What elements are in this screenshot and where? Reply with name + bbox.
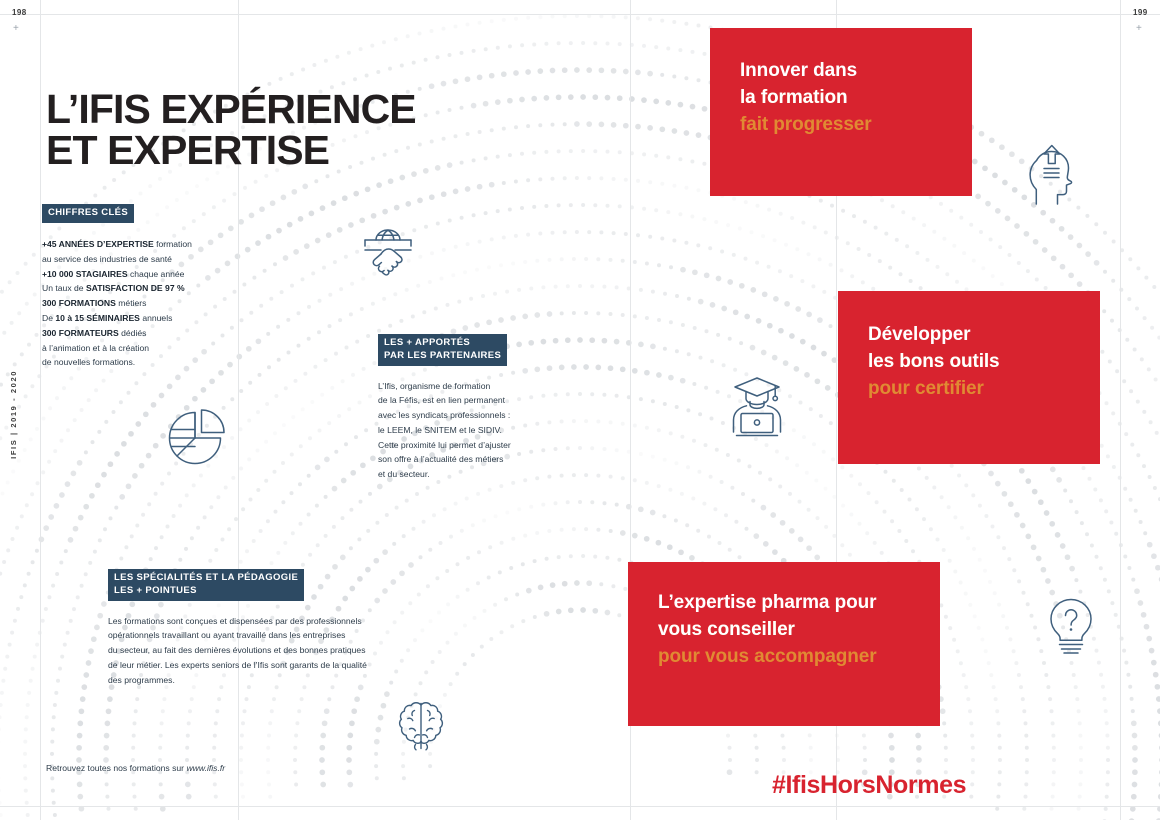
hashtag-ifishorsnormes: #IfisHorsNormes [772,771,966,800]
body-text-line: De 10 à 15 SÉMINAIRES annuels [42,311,232,326]
body-text-run: annuels [142,313,172,323]
body-text-strong: 300 FORMATIONS [42,298,118,308]
body-text-run: de leur métier. Les experts seniors de l… [108,660,367,670]
body-text-line: +10 000 STAGIAIRES chaque année [42,267,232,282]
body-text-line: et du secteur. [378,467,548,482]
body-text-line: son offre à l’actualité des métiers [378,452,548,467]
body-text-strong: 300 FORMATEURS [42,328,121,338]
body-text-strong: SATISFACTION DE 97 % [86,283,185,293]
body-text-strong: +10 000 STAGIAIRES [42,269,130,279]
page-title-line-1: L’IFIS EXPÉRIENCE [46,89,416,129]
section-label-chiffres-cles: CHIFFRES CLÉS [42,204,134,223]
body-text-line: de leur métier. Les experts seniors de l… [108,658,398,673]
page-title: L’IFIS EXPÉRIENCE ET EXPERTISE [46,89,416,169]
footer-url-value[interactable]: www.ifis.fr [186,763,225,773]
body-text-line: +45 ANNÉES D’EXPERTISE formation [42,237,232,252]
spine-label: IFIS | 2019 - 2020 [9,370,18,459]
section-label-line: LES + POINTUES [114,585,298,598]
section-label-specialites-pedagogie: LES SPÉCIALITÉS ET LA PÉDAGOGIELES + POI… [108,569,304,601]
page-title-line-2: ET EXPERTISE [46,130,416,170]
section-label-line: LES SPÉCIALITÉS ET LA PÉDAGOGIE [114,572,298,585]
body-text-run: Les formations sont conçues et dispensée… [108,616,362,626]
section-label-les-plus-apportes: LES + APPORTÉSPAR LES PARTENAIRES [378,334,507,366]
head-up-arrow-icon [1018,140,1080,210]
callout-front-line: Développer [868,322,1000,349]
body-text-line: de nouvelles formations. [42,355,232,370]
footer-url-prefix: Retrouvez toutes nos formations sur [46,763,186,773]
crop-mark-icon: + [1136,24,1142,34]
body-text-line: Un taux de SATISFACTION DE 97 % [42,281,232,296]
section-body-specialites-pedagogie: Les formations sont conçues et dispensée… [108,614,398,688]
body-text-run: de nouvelles formations. [42,357,135,367]
body-text-strong: +45 ANNÉES D’EXPERTISE [42,239,156,249]
body-text-strong: 10 à 15 SÉMINAIRES [55,313,142,323]
brain-icon [392,696,450,756]
body-text-line: Cette proximité lui permet d’ajuster [378,438,548,453]
body-text-run: métiers [118,298,146,308]
lightbulb-question-icon [1042,594,1100,656]
graduate-laptop-icon [722,374,792,440]
body-text-run: L’Ifis, organisme de formation [378,381,490,391]
body-text-run: chaque année [130,269,184,279]
body-text-line: le LEEM, le SNITEM et le SIDIV. [378,423,548,438]
callout-front-line: la formation [740,85,857,112]
crop-mark-icon: + [13,24,19,34]
section-body-chiffres-cles: +45 ANNÉES D’EXPERTISE formationau servi… [42,237,232,370]
guide-line-horizontal [0,806,1160,807]
section-label-line: LES + APPORTÉS [384,337,501,350]
body-text-line: des programmes. [108,673,398,688]
guide-line-horizontal [0,14,1160,15]
callout-front-text: Innover dansla formation [740,58,857,112]
body-text-run: formation [156,239,192,249]
body-text-line: opérationnels travaillant ou ayant trava… [108,628,398,643]
callout-front-text: Développerles bons outils [868,322,1000,376]
callout-ghost-line: pour certifier [868,376,1000,403]
guide-line-vertical [40,0,41,820]
body-text-line: au service des industries de santé [42,252,232,267]
body-text-run: opérationnels travaillant ou ayant trava… [108,630,345,640]
body-text-run: Cette proximité lui permet d’ajuster [378,440,511,450]
folio-left: 198 [12,8,27,17]
body-text-run: le LEEM, le SNITEM et le SIDIV. [378,425,502,435]
body-text-run: du secteur, au fait des dernières évolut… [108,645,366,655]
section-body-les-plus-apportes: L’Ifis, organisme de formationde la Féfi… [378,379,548,482]
body-text-run: de la Féfis, est en lien permanent [378,395,505,405]
body-text-run: à l’animation et à la création [42,343,149,353]
callout-ghost-line: fait progresser [740,112,872,139]
callout-front-line: vous conseiller [658,617,876,644]
pie-chart-icon [162,404,232,472]
callout-ghost-line: pour vous accompagner [658,644,877,671]
callout-front-line: Innover dans [740,58,857,85]
body-text-line: Les formations sont conçues et dispensée… [108,614,398,629]
body-text-run: avec les syndicats professionnels : [378,410,510,420]
section-specialites-pedagogie: LES SPÉCIALITÉS ET LA PÉDAGOGIELES + POI… [108,569,398,687]
body-text-run: et du secteur. [378,469,430,479]
body-text-run: De [42,313,55,323]
callout-front-line: les bons outils [868,349,1000,376]
callout-front-text: L’expertise pharma pourvous conseiller [658,590,876,644]
body-text-run: son offre à l’actualité des métiers [378,454,503,464]
body-text-line: 300 FORMATIONS métiers [42,296,232,311]
section-label-line: CHIFFRES CLÉS [48,207,128,220]
guide-line-vertical [1120,0,1121,820]
body-text-line: L’Ifis, organisme de formation [378,379,548,394]
footer-url-line: Retrouvez toutes nos formations sur www.… [46,763,225,773]
body-text-line: avec les syndicats professionnels : [378,408,548,423]
section-chiffres-cles: CHIFFRES CLÉS +45 ANNÉES D’EXPERTISE for… [42,202,232,370]
body-text-line: 300 FORMATEURS dédiés [42,326,232,341]
folio-right: 199 [1133,8,1148,17]
body-text-line: de la Féfis, est en lien permanent [378,393,548,408]
callout-box-developper: les bons outilspour certifier Développer… [838,291,1100,464]
body-text-line: du secteur, au fait des dernières évolut… [108,643,398,658]
section-label-line: PAR LES PARTENAIRES [384,350,501,363]
body-text-line: à l’animation et à la création [42,341,232,356]
section-les-plus-apportes: LES + APPORTÉSPAR LES PARTENAIRES L’Ifis… [378,334,548,482]
body-text-run: dédiés [121,328,146,338]
body-text-run: des programmes. [108,675,175,685]
body-text-run: au service des industries de santé [42,254,172,264]
brochure-page: 198 199 + + IFIS | 2019 - 2020 L’IFIS EX… [0,0,1160,820]
callout-front-line: L’expertise pharma pour [658,590,876,617]
body-text-run: Un taux de [42,283,86,293]
callout-box-expertise: vous conseillerpour vous accompagner L’e… [628,562,940,726]
callout-box-innover: la formationfait progresser Innover dans… [710,28,972,196]
handshake-globe-icon [352,222,424,286]
